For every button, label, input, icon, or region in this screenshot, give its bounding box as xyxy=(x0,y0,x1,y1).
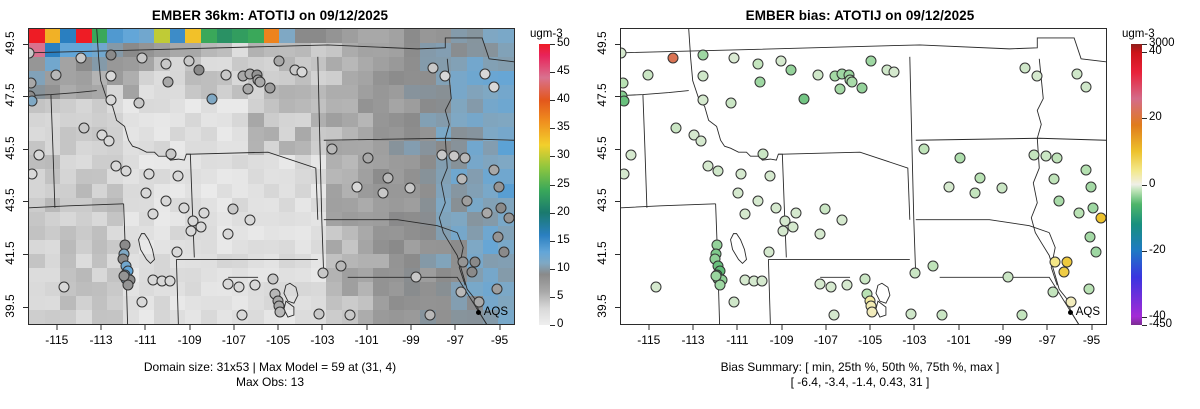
station-marker xyxy=(1072,68,1083,79)
station-marker xyxy=(1003,272,1014,283)
y-axis-tick-label: 43.5 xyxy=(595,176,609,224)
station-marker xyxy=(351,181,362,192)
station-marker xyxy=(28,96,38,107)
station-marker xyxy=(905,309,916,320)
station-marker xyxy=(620,77,629,88)
station-marker xyxy=(28,77,37,88)
y-axis-tick xyxy=(615,201,620,202)
station-marker xyxy=(460,152,471,163)
colorbar-tick-label: 0 xyxy=(1149,178,1155,190)
page-title: EMBER 36km: ATOTIJ on 09/12/2025 xyxy=(0,8,540,23)
station-marker xyxy=(194,64,205,75)
station-marker xyxy=(697,94,708,105)
station-marker xyxy=(411,272,422,283)
station-marker xyxy=(928,260,939,271)
station-marker xyxy=(136,297,147,308)
station-marker xyxy=(455,286,466,297)
colorbar-tick xyxy=(550,72,555,73)
station-marker xyxy=(756,276,767,287)
colorbar-tick-label: -20 xyxy=(1149,244,1166,256)
station-marker xyxy=(133,97,144,108)
station-marker xyxy=(1028,150,1039,161)
station-marker xyxy=(275,306,286,317)
y-axis-tick-label: 39.5 xyxy=(3,282,17,330)
station-marker xyxy=(728,297,739,308)
colorbar-tick-label: 50 xyxy=(557,37,570,49)
x-axis-tick-label: -111 xyxy=(134,333,156,347)
station-marker xyxy=(798,93,809,104)
station-marker xyxy=(735,168,746,179)
station-marker xyxy=(119,271,130,282)
colorbar-tick xyxy=(550,100,555,101)
station-marker xyxy=(1016,310,1027,321)
x-axis-tick-label: -109 xyxy=(770,333,794,347)
colorbar-tick xyxy=(550,44,555,45)
colorbar-tick xyxy=(550,269,555,270)
station-marker xyxy=(436,150,447,161)
station-marker xyxy=(671,122,682,133)
station-marker xyxy=(165,148,176,159)
station-marker xyxy=(837,214,848,225)
station-marker xyxy=(757,148,768,159)
station-marker xyxy=(790,207,801,218)
colorbar-tick xyxy=(550,241,555,242)
station-marker xyxy=(1080,81,1091,92)
station-marker xyxy=(105,50,116,61)
station-marker xyxy=(488,164,499,175)
station-marker xyxy=(1058,267,1069,278)
x-axis-tick xyxy=(737,325,738,330)
station-marker xyxy=(173,171,184,182)
y-axis-tick xyxy=(615,254,620,255)
y-axis-tick-label: 49.5 xyxy=(595,19,609,67)
station-marker xyxy=(178,202,189,213)
station-marker xyxy=(456,173,467,184)
x-axis-tick-label: -105 xyxy=(858,333,882,347)
station-marker xyxy=(382,172,393,183)
station-marker xyxy=(1062,256,1073,267)
station-marker xyxy=(221,69,232,80)
y-axis-tick-label: 41.5 xyxy=(3,229,17,277)
colorbar-tick-label: 10 xyxy=(557,262,570,274)
station-marker xyxy=(765,171,776,182)
station-marker xyxy=(786,64,797,75)
station-marker xyxy=(462,196,473,207)
station-marker xyxy=(480,68,491,79)
station-marker xyxy=(404,183,415,194)
station-marker xyxy=(147,209,158,220)
x-axis-tick-label: -95 xyxy=(1083,333,1100,347)
y-axis-tick-label: 43.5 xyxy=(3,176,17,224)
x-axis-tick xyxy=(278,325,279,330)
station-marker xyxy=(59,281,70,292)
station-marker xyxy=(424,310,435,321)
station-marker xyxy=(198,207,209,218)
station-marker xyxy=(488,81,499,92)
station-marker xyxy=(713,165,724,176)
station-marker xyxy=(753,59,764,70)
colorbar-tick-label: 40 xyxy=(557,93,570,105)
station-marker xyxy=(492,284,503,295)
station-marker xyxy=(970,188,981,199)
station-marker xyxy=(620,168,630,179)
colorbar-tick xyxy=(1142,251,1147,252)
station-marker xyxy=(695,135,706,146)
model-map-plot: AQS xyxy=(28,28,515,325)
colorbar-tick-label: 45 xyxy=(557,65,570,77)
station-marker xyxy=(223,229,234,240)
y-axis-tick xyxy=(615,307,620,308)
x-axis-tick-label: -97 xyxy=(1039,333,1056,347)
station-marker xyxy=(161,196,172,207)
x-axis-tick-label: -101 xyxy=(947,333,971,347)
colorbar-tick-label: 25 xyxy=(557,178,570,190)
station-marker xyxy=(943,181,954,192)
station-marker xyxy=(711,271,722,282)
aqs-dot-icon xyxy=(476,310,481,315)
station-marker xyxy=(733,188,744,199)
station-marker xyxy=(121,165,132,176)
station-marker xyxy=(1049,256,1060,267)
station-marker xyxy=(1048,173,1059,184)
station-marker xyxy=(764,247,775,258)
y-axis-tick xyxy=(23,44,28,45)
station-marker xyxy=(494,181,505,192)
x-axis-tick-label: -103 xyxy=(310,333,334,347)
colorbar-tick-label: 20 xyxy=(557,206,570,218)
y-axis-tick xyxy=(23,254,28,255)
station-marker xyxy=(787,222,798,233)
station-marker xyxy=(172,247,183,258)
colorbar-tick-label: 35 xyxy=(557,121,570,133)
y-axis-tick xyxy=(615,149,620,150)
station-marker xyxy=(362,152,373,163)
station-marker xyxy=(195,222,206,233)
colorbar-tick-label: 0 xyxy=(557,318,563,330)
station-marker xyxy=(841,280,852,291)
station-marker xyxy=(267,273,278,284)
x-axis-tick-label: -115 xyxy=(637,333,660,347)
y-axis-tick-label: 45.5 xyxy=(595,124,609,172)
model-panel: EMBER 36km: ATOTIJ on 09/12/2025 xyxy=(0,0,600,409)
colorbar-tick xyxy=(1142,118,1147,119)
x-axis-tick xyxy=(233,325,234,330)
station-marker xyxy=(859,273,870,284)
station-marker xyxy=(625,150,636,161)
colorbar-gradient xyxy=(539,44,550,325)
station-marker xyxy=(954,152,965,163)
station-marker xyxy=(223,278,234,289)
colorbar-tick-label: 40 xyxy=(1149,45,1162,57)
station-marker xyxy=(620,96,630,107)
station-marker xyxy=(1084,284,1095,295)
y-axis-tick-label: 47.5 xyxy=(3,71,17,119)
colorbar-tick xyxy=(550,325,555,326)
x-axis-tick-label: -113 xyxy=(89,333,112,347)
y-axis-tick-label: 41.5 xyxy=(595,229,609,277)
station-marker xyxy=(815,278,826,289)
station-marker xyxy=(835,84,846,95)
station-marker xyxy=(105,71,116,82)
station-marker xyxy=(378,188,389,199)
station-marker xyxy=(482,207,493,218)
station-marker xyxy=(76,52,87,63)
x-axis-tick-label: -103 xyxy=(902,333,926,347)
station-marker xyxy=(136,52,147,63)
y-axis-tick-label: 45.5 xyxy=(3,124,17,172)
x-axis-tick-label: -109 xyxy=(178,333,202,347)
station-marker xyxy=(1047,286,1058,297)
station-marker xyxy=(1096,213,1107,224)
station-marker xyxy=(498,247,509,258)
colorbar-tick-label: 15 xyxy=(557,234,570,246)
colorbar-tick xyxy=(1142,52,1147,53)
y-axis-tick-label: 49.5 xyxy=(3,19,17,67)
station-marker xyxy=(164,276,175,287)
y-axis-tick xyxy=(23,149,28,150)
station-marker xyxy=(504,213,515,224)
colorbar-tick xyxy=(550,213,555,214)
station-marker xyxy=(1041,151,1052,162)
station-marker xyxy=(466,267,477,278)
station-marker xyxy=(1090,247,1101,258)
station-marker xyxy=(427,63,438,74)
bias-station-markers xyxy=(621,29,1106,324)
station-marker xyxy=(739,209,750,220)
station-marker xyxy=(234,281,245,292)
colorbar-tick xyxy=(1142,317,1147,318)
station-marker xyxy=(163,76,174,87)
station-marker xyxy=(819,204,830,215)
station-marker xyxy=(236,310,247,321)
station-marker xyxy=(297,67,308,78)
x-axis-tick-label: -111 xyxy=(726,333,748,347)
x-axis-tick xyxy=(870,325,871,330)
aqs-legend-model: AQS xyxy=(476,306,508,318)
x-axis-tick-label: -115 xyxy=(45,333,68,347)
y-axis-tick xyxy=(23,96,28,97)
station-marker xyxy=(755,76,766,87)
station-marker xyxy=(79,122,90,133)
station-marker xyxy=(143,168,154,179)
colorbar-tick xyxy=(1142,44,1147,45)
station-marker xyxy=(620,47,627,58)
x-axis-tick-label: -99 xyxy=(994,333,1011,347)
x-axis-tick xyxy=(825,325,826,330)
y-axis-tick xyxy=(615,44,620,45)
y-axis-tick-label: 47.5 xyxy=(595,71,609,119)
aqs-legend-bias: AQS xyxy=(1068,306,1100,318)
x-axis-tick xyxy=(1002,325,1003,330)
station-marker xyxy=(105,94,116,105)
x-axis-tick-label: -99 xyxy=(402,333,419,347)
y-axis-tick xyxy=(23,307,28,308)
colorbar-tick xyxy=(550,156,555,157)
station-marker xyxy=(1052,152,1063,163)
station-marker xyxy=(265,83,276,94)
station-marker xyxy=(318,268,329,279)
bias-map-plot: AQS xyxy=(620,28,1107,325)
station-marker xyxy=(28,168,38,179)
station-marker xyxy=(1032,71,1043,82)
model-station-markers xyxy=(29,29,514,324)
station-marker xyxy=(826,281,837,292)
colorbar-tick xyxy=(1142,325,1147,326)
station-marker xyxy=(776,55,787,66)
station-marker xyxy=(828,310,839,321)
station-marker xyxy=(813,69,824,80)
station-marker xyxy=(697,71,708,82)
station-marker xyxy=(651,281,662,292)
station-marker xyxy=(910,268,921,279)
station-marker xyxy=(313,309,324,320)
station-marker xyxy=(495,202,506,213)
colorbar-tick xyxy=(550,185,555,186)
station-marker xyxy=(243,84,254,95)
station-marker xyxy=(206,93,217,104)
station-marker xyxy=(815,229,826,240)
station-marker xyxy=(1054,196,1065,207)
station-marker xyxy=(1086,181,1097,192)
x-axis-tick xyxy=(914,325,915,330)
station-marker xyxy=(470,256,481,267)
station-marker xyxy=(1085,231,1096,242)
station-marker xyxy=(161,59,172,70)
x-axis-tick xyxy=(455,325,456,330)
station-marker xyxy=(33,150,44,161)
x-axis-tick xyxy=(101,325,102,330)
x-axis-tick xyxy=(499,325,500,330)
y-axis-model: 39.541.543.545.547.549.5 xyxy=(0,28,28,325)
colorbar-tick-label: 30 xyxy=(557,149,570,161)
station-marker xyxy=(184,55,195,66)
bias-panel: EMBER bias: ATOTIJ on 09/12/2025 xyxy=(600,0,1200,409)
x-axis-tick xyxy=(145,325,146,330)
station-marker xyxy=(141,188,152,199)
bias-caption-line1: Bias Summary: [ min, 25th %, 50th %, 75t… xyxy=(590,360,1130,374)
y-axis-tick xyxy=(615,96,620,97)
x-axis-tick xyxy=(781,325,782,330)
x-axis-tick xyxy=(322,325,323,330)
station-marker xyxy=(1080,164,1091,175)
colorbar-tick-label: 5 xyxy=(557,290,563,302)
x-axis-tick-label: -101 xyxy=(355,333,379,347)
station-marker xyxy=(936,310,947,321)
x-axis-tick xyxy=(366,325,367,330)
station-marker xyxy=(996,183,1007,194)
station-marker xyxy=(344,310,355,321)
station-marker xyxy=(449,151,460,162)
x-axis-tick-label: -107 xyxy=(814,333,838,347)
station-marker xyxy=(274,55,285,66)
station-marker xyxy=(493,231,504,242)
x-axis-bias: -115-113-111-109-107-105-103-101-99-97-9… xyxy=(620,325,1107,365)
station-marker xyxy=(753,196,764,207)
station-marker xyxy=(249,280,260,291)
x-axis-tick xyxy=(958,325,959,330)
station-marker xyxy=(28,47,35,58)
station-marker xyxy=(642,69,653,80)
station-marker xyxy=(245,214,256,225)
figure-root: EMBER 36km: ATOTIJ on 09/12/2025 xyxy=(0,0,1200,409)
x-axis-tick-label: -113 xyxy=(681,333,704,347)
colorbar-gradient xyxy=(1131,44,1142,325)
colorbar-tick xyxy=(550,128,555,129)
x-axis-tick xyxy=(1091,325,1092,330)
x-axis-tick-label: -105 xyxy=(266,333,290,347)
bias-caption-line2: [ -6.4, -3.4, -1.4, 0.43, 31 ] xyxy=(590,375,1130,389)
x-axis-tick xyxy=(648,325,649,330)
station-marker xyxy=(919,143,930,154)
colorbar-tick-label: 20 xyxy=(1149,111,1162,123)
station-marker xyxy=(857,83,868,94)
x-axis-tick xyxy=(410,325,411,330)
station-marker xyxy=(668,52,679,63)
station-marker xyxy=(728,52,739,63)
x-axis-tick xyxy=(693,325,694,330)
station-marker xyxy=(227,204,238,215)
station-marker xyxy=(867,306,878,317)
station-marker xyxy=(327,143,338,154)
station-marker xyxy=(770,202,781,213)
bias-page-title: EMBER bias: ATOTIJ on 09/12/2025 xyxy=(590,8,1130,23)
colorbar-bias: ugm-3300040200-20-40-450 xyxy=(1122,28,1192,325)
aqs-dot-icon xyxy=(1068,310,1073,315)
x-axis-tick-label: -107 xyxy=(222,333,246,347)
x-axis-model: -115-113-111-109-107-105-103-101-99-97-9… xyxy=(28,325,515,365)
x-axis-tick xyxy=(1047,325,1048,330)
station-marker xyxy=(866,55,877,66)
station-marker xyxy=(889,67,900,78)
model-caption-line2: Max Obs: 13 xyxy=(0,375,540,389)
y-axis-tick-label: 39.5 xyxy=(595,282,609,330)
x-axis-tick-label: -95 xyxy=(491,333,508,347)
station-marker xyxy=(440,71,451,82)
station-marker xyxy=(103,135,114,146)
aqs-legend-label: AQS xyxy=(1076,306,1100,318)
station-marker xyxy=(697,50,708,61)
station-marker xyxy=(1074,207,1085,218)
station-marker xyxy=(725,97,736,108)
x-axis-tick xyxy=(189,325,190,330)
model-caption-line1: Domain size: 31x53 | Max Model = 59 at (… xyxy=(0,360,540,374)
x-axis-tick xyxy=(56,325,57,330)
station-marker xyxy=(50,69,61,80)
station-marker xyxy=(336,260,347,271)
y-axis-tick xyxy=(23,201,28,202)
y-axis-bias: 39.541.543.545.547.549.5 xyxy=(590,28,620,325)
station-marker xyxy=(1087,202,1098,213)
station-marker xyxy=(457,256,468,267)
colorbar-tick xyxy=(550,297,555,298)
station-marker xyxy=(1019,63,1030,74)
x-axis-tick-label: -97 xyxy=(447,333,464,347)
aqs-legend-label: AQS xyxy=(484,306,508,318)
colorbar-tick xyxy=(1142,185,1147,186)
station-marker xyxy=(974,172,985,183)
colorbar-tick-label: -450 xyxy=(1149,318,1172,330)
